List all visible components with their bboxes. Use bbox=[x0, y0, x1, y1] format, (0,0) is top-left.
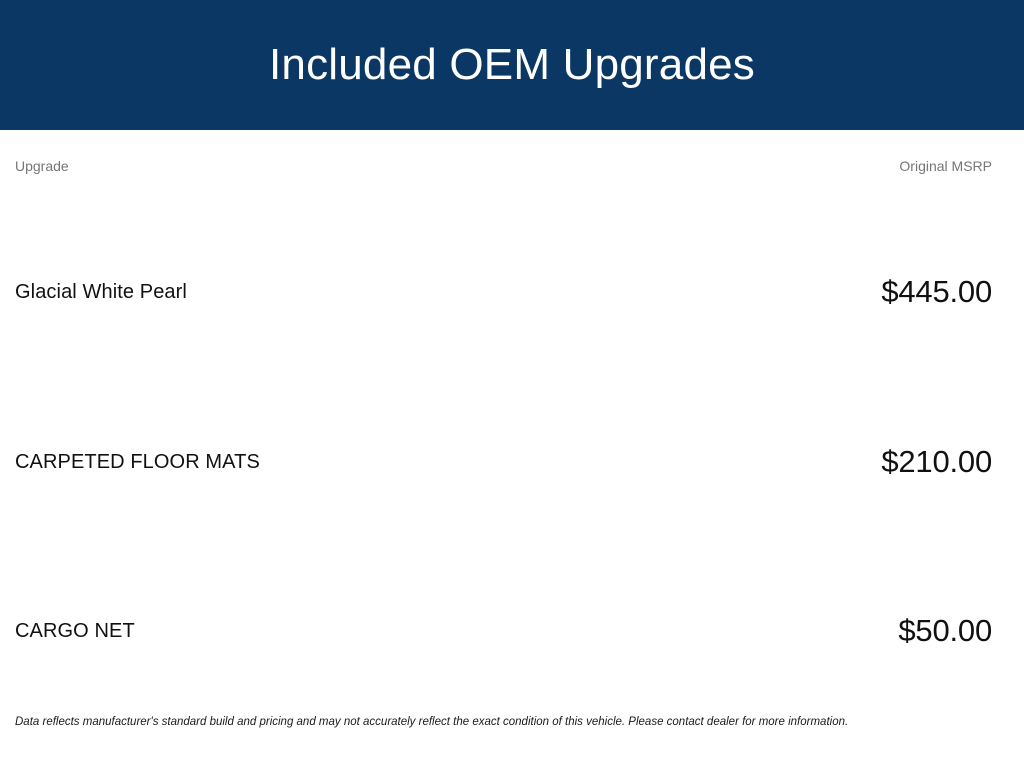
column-header-upgrade: Upgrade bbox=[15, 159, 69, 173]
oem-upgrades-page: Included OEM Upgrades Upgrade Original M… bbox=[0, 0, 1024, 768]
table-body: Glacial White Pearl $445.00 CARPETED FLO… bbox=[15, 207, 992, 716]
page-header-banner: Included OEM Upgrades bbox=[0, 0, 1024, 130]
table-row: Glacial White Pearl $445.00 bbox=[15, 207, 992, 377]
upgrade-name: CARPETED FLOOR MATS bbox=[15, 451, 260, 473]
upgrade-price: $50.00 bbox=[898, 614, 992, 648]
upgrade-name: Glacial White Pearl bbox=[15, 281, 187, 303]
upgrade-price: $445.00 bbox=[881, 275, 992, 309]
disclaimer-text: Data reflects manufacturer's standard bu… bbox=[15, 716, 992, 768]
table-row: CARPETED FLOOR MATS $210.00 bbox=[15, 377, 992, 547]
column-header-original-msrp: Original MSRP bbox=[899, 159, 992, 173]
table-column-header-row: Upgrade Original MSRP bbox=[15, 159, 992, 207]
upgrade-name: CARGO NET bbox=[15, 620, 135, 642]
page-title: Included OEM Upgrades bbox=[269, 43, 755, 87]
table-row: CARGO NET $50.00 bbox=[15, 546, 992, 716]
upgrade-price: $210.00 bbox=[881, 445, 992, 479]
upgrades-table: Upgrade Original MSRP Glacial White Pear… bbox=[0, 130, 1024, 768]
